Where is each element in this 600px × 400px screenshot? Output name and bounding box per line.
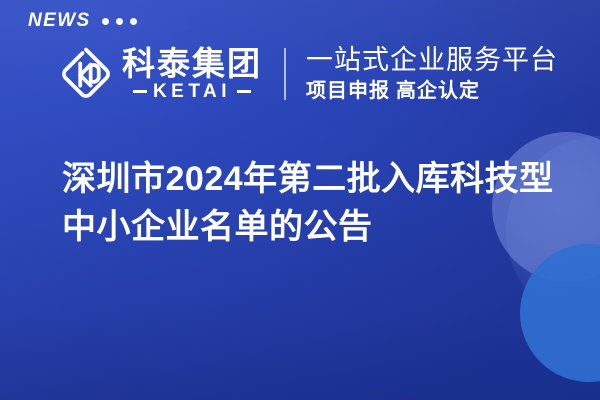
news-label: NEWS xyxy=(28,11,91,30)
news-kicker: NEWS xyxy=(28,11,137,30)
news-banner: NEWS 科泰集团 KETAI xyxy=(0,0,600,400)
tagline-block: 一站式企业服务平台 项目申报 高企认定 xyxy=(306,46,558,101)
news-dots-icon xyxy=(102,16,137,25)
logo-rule-right-icon xyxy=(237,90,251,93)
logo-company-name-en: KETAI xyxy=(153,82,231,101)
logo-rule-left-icon xyxy=(133,90,147,93)
logo-divider xyxy=(284,48,286,100)
tagline-sub: 项目申报 高企认定 xyxy=(306,81,558,102)
logo-english-row: KETAI xyxy=(122,82,262,101)
logo-company-name-cn: 科泰集团 xyxy=(122,47,262,81)
logo-lockup: 科泰集团 KETAI 一站式企业服务平台 项目申报 高企认定 xyxy=(57,45,558,103)
tagline-main: 一站式企业服务平台 xyxy=(306,46,558,75)
ketai-kp-monogram-icon xyxy=(57,45,115,103)
news-dot-icon xyxy=(130,18,137,25)
page-title: 深圳市2024年第二批入库科技型中小企业名单的公告 xyxy=(62,155,572,252)
news-dot-icon xyxy=(116,18,123,25)
decorative-circle-bright xyxy=(520,244,600,382)
news-dot-icon xyxy=(102,18,109,25)
logo-wordmark: 科泰集团 KETAI xyxy=(122,47,262,102)
